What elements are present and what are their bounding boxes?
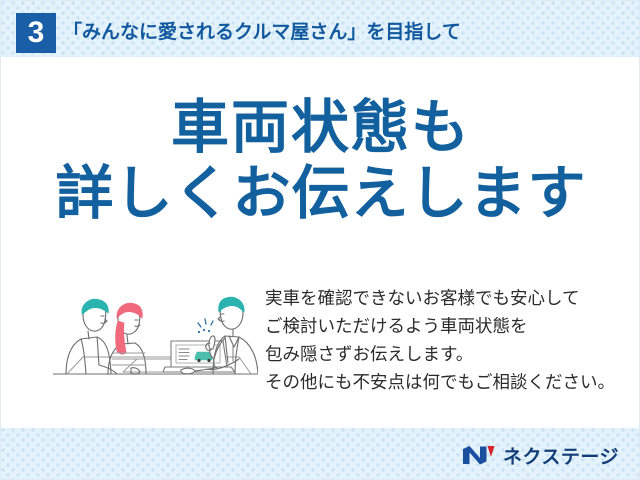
body-copy: 実車を確認できないお客様でも安心して ご検討いただけるよう車両状態を 包み隠さず… xyxy=(265,285,613,397)
body-copy-line-2: ご検討いただけるよう車両状態を xyxy=(265,313,613,341)
consultation-illustration xyxy=(53,275,258,390)
headline-line-2: 詳しくお伝えします xyxy=(1,159,640,227)
promo-banner: 3 「みんなに愛されるクルマ屋さん」を目指して 車両状態も 詳しくお伝えします xyxy=(0,0,640,480)
header-title: 「みんなに愛されるクルマ屋さん」を目指して xyxy=(63,15,461,49)
body-copy-line-4: その他にも不安点は何でもご相談ください。 xyxy=(265,369,613,397)
body-copy-line-3: 包み隠さずお伝えします。 xyxy=(265,341,613,369)
footer-band: ネクステージ xyxy=(1,428,640,480)
section-number-badge: 3 xyxy=(16,13,56,53)
header-band: 3 「みんなに愛されるクルマ屋さん」を目指して xyxy=(1,1,640,57)
headline-line-1: 車両状態も xyxy=(1,95,640,159)
nextage-n-logo-icon xyxy=(462,443,496,467)
brand-logo-text: ネクステージ xyxy=(503,442,619,469)
body-copy-line-1: 実車を確認できないお客様でも安心して xyxy=(265,285,613,313)
headline: 車両状態も 詳しくお伝えします xyxy=(1,95,640,227)
main-content: 車両状態も 詳しくお伝えします xyxy=(1,57,640,428)
brand-logo: ネクステージ xyxy=(462,442,619,468)
